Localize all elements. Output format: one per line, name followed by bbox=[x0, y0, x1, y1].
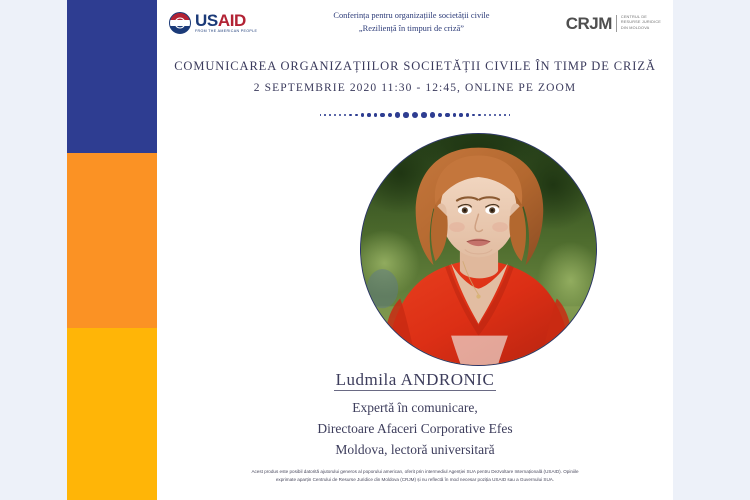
speaker-role-line1: Expertă în comunicare, bbox=[157, 398, 673, 419]
divider-dot bbox=[412, 112, 418, 118]
divider-dot bbox=[388, 113, 393, 118]
usaid-word-aid: AID bbox=[218, 11, 246, 30]
usaid-tagline: FROM THE AMERICAN PEOPLE bbox=[195, 30, 257, 34]
conference-title-line1: Conferința pentru organizațiile societăț… bbox=[263, 10, 559, 23]
divider-dot bbox=[478, 114, 481, 117]
slide-header: USAID FROM THE AMERICAN PEOPLE Conferinț… bbox=[157, 4, 673, 42]
usaid-logo: USAID FROM THE AMERICAN PEOPLE bbox=[169, 12, 257, 34]
divider-dot bbox=[344, 114, 346, 116]
disclaimer-line2: exprimate aparțin Centrului de Resurse J… bbox=[171, 476, 659, 484]
divider-dot bbox=[489, 114, 491, 116]
divider-dot bbox=[504, 114, 506, 116]
crjm-subtitle: CENTRUL DE RESURSE JURIDICE DIN MOLDOVA bbox=[621, 15, 661, 32]
conference-title-line2: „Reziliență în timpuri de criză” bbox=[263, 23, 559, 36]
divider-dot bbox=[349, 114, 352, 117]
divider-dot bbox=[361, 113, 364, 116]
divider-dot bbox=[380, 113, 384, 117]
divider-dot bbox=[494, 114, 496, 116]
divider-dot bbox=[459, 113, 463, 117]
conference-title: Conferința pentru organizațiile societăț… bbox=[257, 10, 565, 35]
usaid-wordmark-text: USAID bbox=[195, 12, 257, 29]
crjm-subtitle-line2: RESURSE JURIDICE bbox=[621, 20, 661, 26]
divider-dot bbox=[421, 112, 427, 118]
crjm-divider bbox=[616, 15, 617, 32]
divider-dot bbox=[499, 114, 501, 116]
crjm-logo: CRJM CENTRUL DE RESURSE JURIDICE DIN MOL… bbox=[566, 15, 661, 32]
disclaimer-line1: Acest produs este posibil datorită ajuto… bbox=[171, 468, 659, 476]
page-title-line2: 2 SEPTEMBRIE 2020 11:30 - 12:45, ONLINE … bbox=[157, 78, 673, 98]
divider-dot bbox=[509, 114, 511, 116]
divider-dot bbox=[334, 114, 336, 116]
divider-dot bbox=[339, 114, 341, 116]
speaker-name: Ludmila ANDRONIC bbox=[157, 370, 673, 390]
crjm-wordmark: CRJM bbox=[566, 15, 612, 32]
divider-dot bbox=[395, 112, 400, 117]
usaid-seal-icon bbox=[169, 12, 191, 34]
usaid-word-us: US bbox=[195, 11, 218, 30]
divider-dot bbox=[472, 114, 475, 117]
divider-dot bbox=[374, 113, 378, 117]
sidebar-band-amber bbox=[67, 328, 157, 500]
divider-dot bbox=[453, 113, 457, 117]
sidebar-band-orange bbox=[67, 153, 157, 328]
usaid-wordmark: USAID FROM THE AMERICAN PEOPLE bbox=[195, 12, 257, 34]
divider-dot bbox=[466, 113, 469, 116]
divider-dot bbox=[320, 114, 322, 116]
page-title-line1: COMUNICAREA ORGANIZAȚIILOR SOCIETĂȚII CI… bbox=[157, 56, 673, 78]
crjm-subtitle-line3: DIN MOLDOVA bbox=[621, 26, 661, 32]
divider-dot bbox=[445, 113, 449, 117]
speaker-role: Expertă în comunicare, Directoare Afacer… bbox=[157, 398, 673, 461]
disclaimer: Acest produs este posibil datorită ajuto… bbox=[171, 468, 659, 484]
speaker-role-line3: Moldova, lectoră universitară bbox=[157, 440, 673, 461]
speaker-portrait-image bbox=[361, 134, 596, 365]
speaker-name-text: Ludmila ANDRONIC bbox=[334, 370, 497, 391]
divider-dot bbox=[438, 113, 443, 118]
divider-dot bbox=[367, 113, 371, 117]
dot-divider bbox=[157, 110, 673, 120]
sidebar-band-blue bbox=[67, 0, 157, 153]
slide-content: USAID FROM THE AMERICAN PEOPLE Conferinț… bbox=[157, 0, 673, 500]
page-title: COMUNICAREA ORGANIZAȚIILOR SOCIETĂȚII CI… bbox=[157, 56, 673, 98]
speaker-avatar bbox=[360, 133, 597, 366]
divider-dot bbox=[355, 114, 358, 117]
divider-dot bbox=[430, 112, 435, 117]
presentation-slide: USAID FROM THE AMERICAN PEOPLE Conferinț… bbox=[67, 0, 673, 500]
divider-dot bbox=[484, 114, 486, 116]
slide-viewer: USAID FROM THE AMERICAN PEOPLE Conferinț… bbox=[0, 0, 750, 500]
divider-dot bbox=[403, 112, 409, 118]
speaker-role-line2: Directoare Afaceri Corporative Efes bbox=[157, 419, 673, 440]
divider-dot bbox=[329, 114, 331, 116]
divider-dot bbox=[324, 114, 326, 116]
